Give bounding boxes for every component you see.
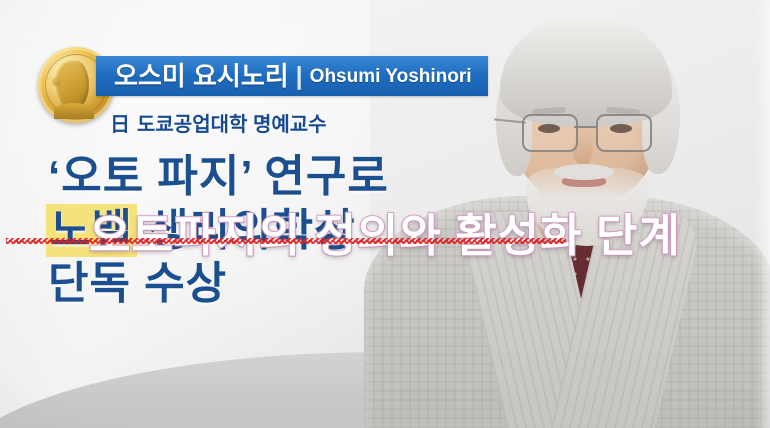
broadcast-news-graphic: ‘오토 파지’ 연구로 노벨 생리의학상 단독 수상 오스미 요시노리 | Oh… (0, 0, 770, 428)
affiliation-text: 도쿄공업대학 명예교수 (137, 114, 327, 136)
affiliation-line: 日도쿄공업대학 명예교수 (110, 108, 327, 137)
country-mark: 日 (110, 114, 130, 136)
headline-line-3: 단독 수상 (48, 257, 478, 311)
medal-profile-collar (54, 103, 94, 119)
caption-red-wavy-underline-secondary (6, 240, 566, 243)
name-english: Ohsumi Yoshinori (310, 67, 472, 86)
name-banner: 오스미 요시노리 | Ohsumi Yoshinori (96, 56, 488, 96)
caption-overlay-text: 오토파지의 정의와 활성화 단계 (89, 199, 681, 264)
medal-profile-nose (52, 77, 61, 86)
headline-line-1: ‘오토 파지’ 연구로 (48, 150, 478, 204)
caption-overlay: 오토파지의 정의와 활성화 단계 (0, 198, 770, 264)
name-korean: 오스미 요시노리 (114, 63, 289, 89)
name-divider: | (296, 64, 303, 89)
